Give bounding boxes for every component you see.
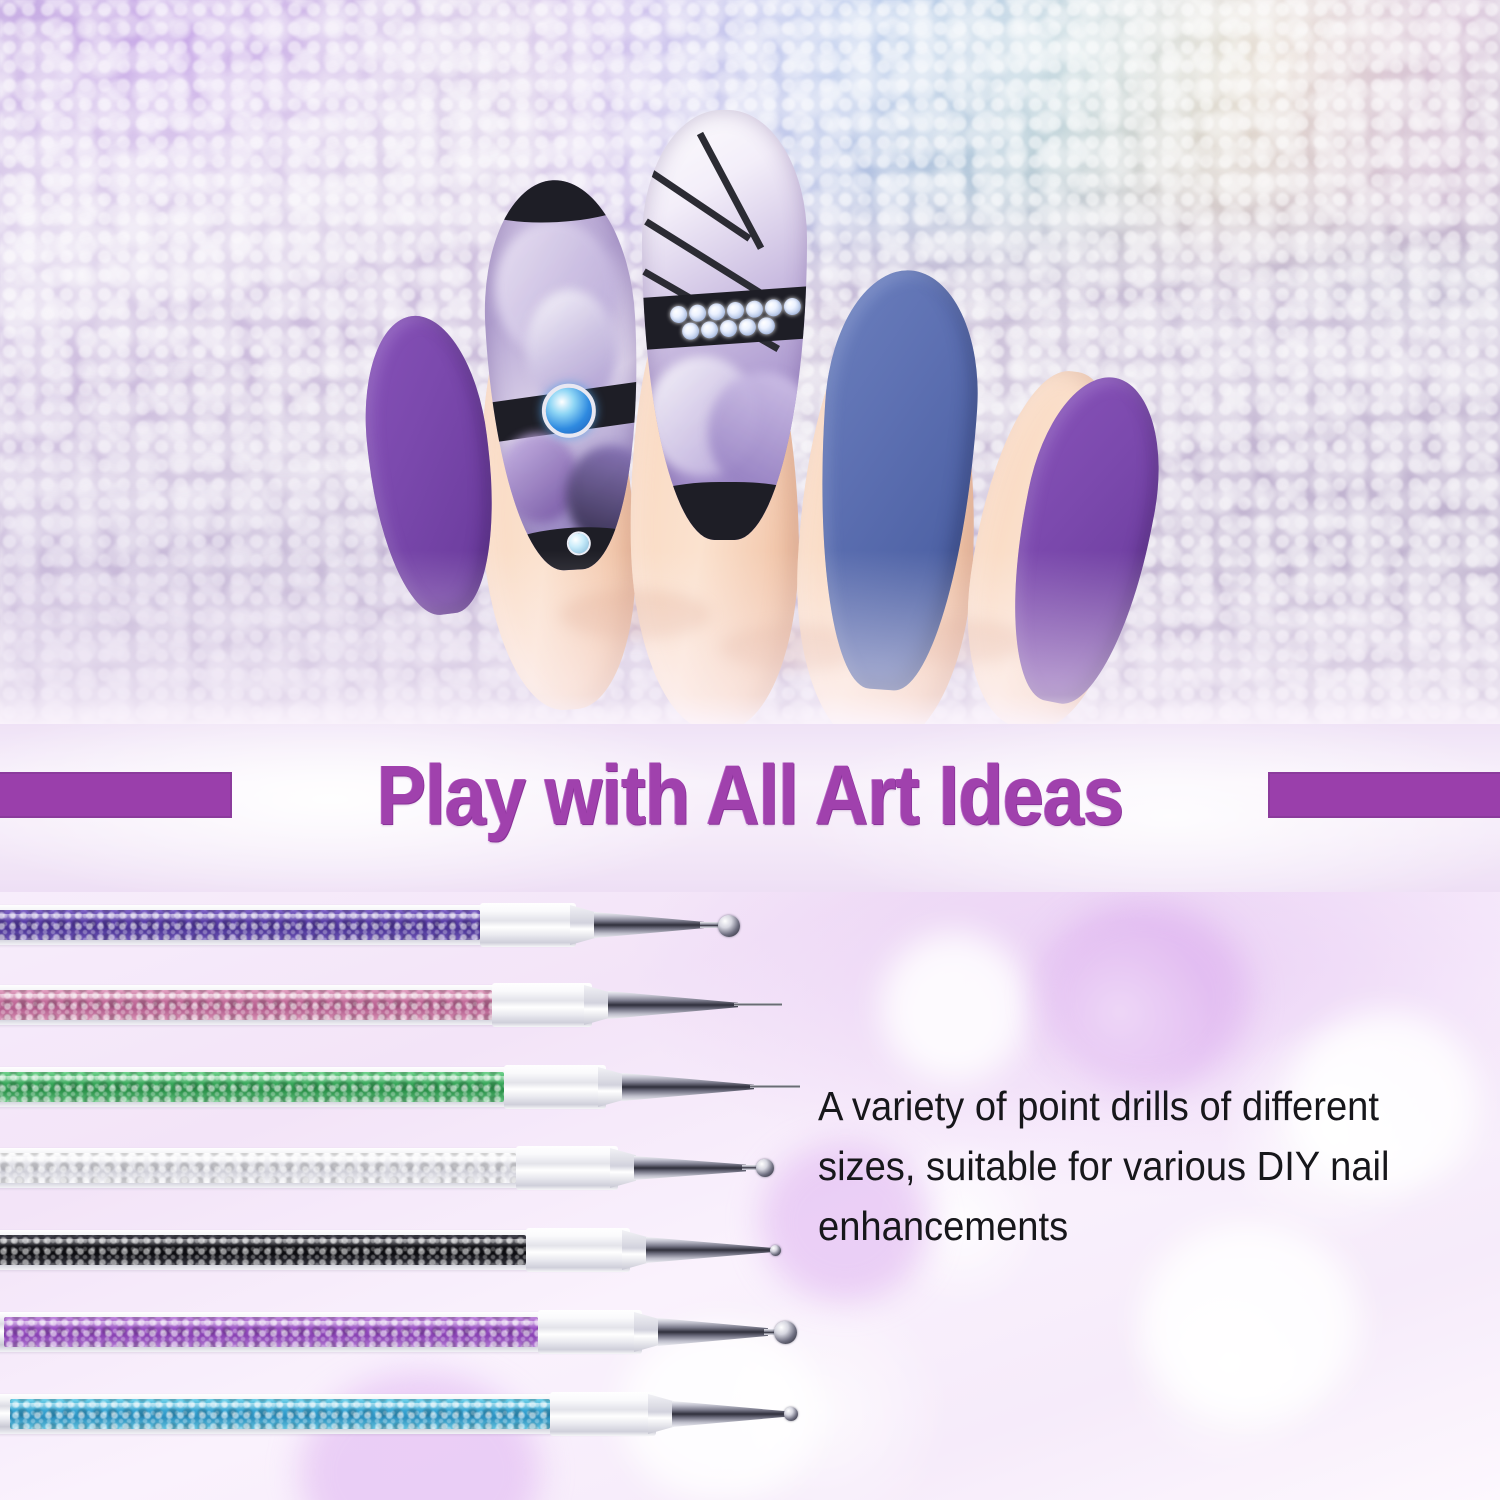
photo-bottom-fade: [0, 0, 1500, 724]
pen-shoulder: [584, 985, 610, 1025]
pen-grip: [480, 903, 576, 947]
pen-shoulder: [634, 1312, 660, 1352]
pen-cone: [672, 1401, 788, 1427]
cone-metal: [594, 912, 704, 938]
pen-cone: [622, 1073, 754, 1101]
pen-glitter-fill: [0, 1153, 516, 1183]
pen-cone: [634, 1156, 746, 1180]
pen-grip: [526, 1228, 630, 1272]
dotting-pen-4[interactable]: [0, 1140, 798, 1196]
ball-tip-large: [774, 1321, 797, 1344]
pen-cone: [658, 1318, 768, 1346]
pen-glitter-fill: [0, 1072, 504, 1102]
pen-grip: [550, 1392, 656, 1436]
pen-cone: [608, 991, 738, 1019]
product-listing-image: Play with All Art Ideas: [0, 0, 1500, 1500]
pen-shoulder: [570, 905, 596, 945]
ball-tip-tiny: [770, 1245, 781, 1256]
dotting-pen-3[interactable]: [0, 1059, 817, 1115]
pen-glitter-fill: [4, 1317, 538, 1347]
feature-description: A variety of point drills of different s…: [818, 1076, 1443, 1256]
pen-grip: [504, 1065, 606, 1109]
pen-glitter-fill: [0, 990, 492, 1020]
pen-glitter-fill: [0, 910, 480, 940]
pen-grip: [516, 1146, 618, 1190]
pen-shoulder: [648, 1394, 674, 1434]
pen-shoulder: [610, 1148, 636, 1188]
cone-metal: [672, 1401, 788, 1427]
pen-shoulder: [622, 1230, 648, 1270]
pen-cone: [646, 1237, 772, 1263]
dotting-pen-5[interactable]: [0, 1222, 814, 1278]
dotting-pen-7[interactable]: [0, 1386, 826, 1442]
hero-nail-art-photo: [0, 0, 1500, 724]
cone-metal: [646, 1237, 772, 1263]
cone-metal: [658, 1318, 768, 1346]
ball-tip-large: [718, 915, 740, 937]
dotting-pen-6[interactable]: [0, 1304, 810, 1360]
pen-glitter-fill: [0, 1235, 526, 1265]
dotting-pen-2[interactable]: [0, 977, 796, 1033]
pen-shoulder: [598, 1067, 624, 1107]
needle-tip: [734, 1003, 782, 1006]
page-title: Play with All Art Ideas: [90, 736, 1410, 854]
bokeh-dot: [880, 932, 1030, 1082]
pen-grip: [538, 1310, 642, 1354]
cone-metal: [622, 1073, 754, 1101]
cone-metal: [634, 1156, 746, 1180]
dotting-pen-1[interactable]: [0, 897, 760, 953]
needle-tip: [750, 1085, 800, 1088]
ball-tip-medium: [756, 1159, 774, 1177]
cone-metal: [608, 991, 738, 1019]
ball-tip-small: [784, 1407, 798, 1421]
bokeh-dot: [1040, 902, 1250, 1092]
pen-cone: [594, 912, 704, 938]
pen-grip: [492, 983, 592, 1027]
pen-glitter-fill: [10, 1399, 550, 1429]
